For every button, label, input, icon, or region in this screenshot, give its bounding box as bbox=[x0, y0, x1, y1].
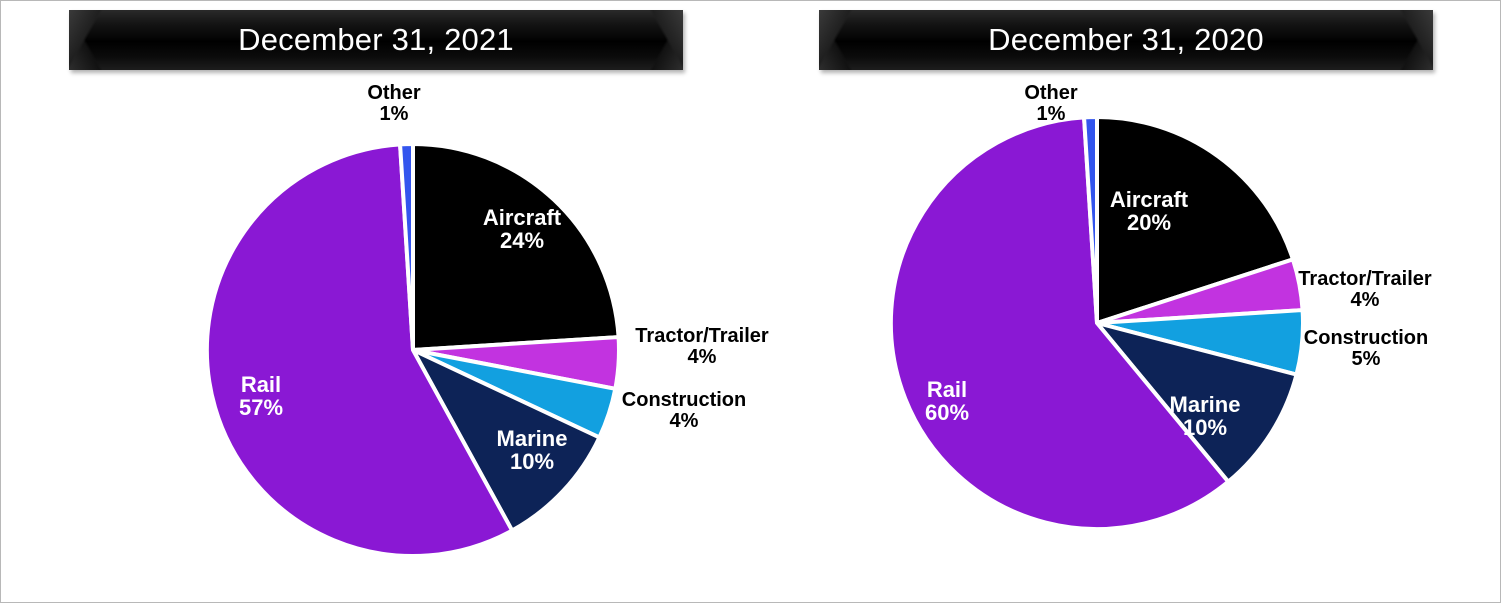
panel-title-2020: December 31, 2020 bbox=[819, 10, 1433, 70]
label-aircraft-value-2021: 24% bbox=[447, 229, 597, 252]
pie-area-2020: Other 1% Aircraft 20% Tractor/Trailer 4%… bbox=[751, 73, 1501, 602]
label-tractor-trailer-name-2020: Tractor/Trailer bbox=[1275, 269, 1455, 290]
label-marine-value-2020: 10% bbox=[1137, 416, 1273, 439]
label-marine-name-2021: Marine bbox=[464, 427, 600, 450]
label-aircraft-2021: Aircraft 24% bbox=[447, 206, 597, 253]
label-other-value-2021: 1% bbox=[334, 104, 454, 125]
pie-area-2021: Other 1% Aircraft 24% Tractor/Trailer 4%… bbox=[1, 73, 751, 602]
label-other-2020: Other 1% bbox=[991, 83, 1111, 125]
label-marine-name-2020: Marine bbox=[1137, 393, 1273, 416]
label-construction-value-2020: 5% bbox=[1278, 349, 1454, 370]
label-tractor-trailer-2020: Tractor/Trailer 4% bbox=[1275, 269, 1455, 311]
banner-plate: December 31, 2020 bbox=[819, 10, 1433, 70]
label-other-name-2020: Other bbox=[991, 83, 1111, 104]
label-other-2021: Other 1% bbox=[334, 83, 454, 125]
chart-panel-2021: December 31, 2021 bbox=[1, 1, 751, 602]
title-banner-2021: December 31, 2021 bbox=[69, 10, 683, 70]
label-construction-name-2021: Construction bbox=[599, 390, 769, 411]
chart-panel-2020: December 31, 2020 bbox=[751, 1, 1501, 602]
label-construction-2021: Construction 4% bbox=[599, 390, 769, 432]
label-marine-2020: Marine 10% bbox=[1137, 393, 1273, 440]
pie-chart-figure: December 31, 2021 bbox=[0, 0, 1501, 603]
label-marine-value-2021: 10% bbox=[464, 450, 600, 473]
label-marine-2021: Marine 10% bbox=[464, 427, 600, 474]
label-construction-name-2020: Construction bbox=[1278, 328, 1454, 349]
label-construction-2020: Construction 5% bbox=[1278, 328, 1454, 370]
label-tractor-trailer-value-2020: 4% bbox=[1275, 290, 1455, 311]
label-aircraft-value-2020: 20% bbox=[1074, 211, 1224, 234]
label-aircraft-name-2021: Aircraft bbox=[447, 206, 597, 229]
label-other-name-2021: Other bbox=[334, 83, 454, 104]
banner-plate: December 31, 2021 bbox=[69, 10, 683, 70]
title-banner-2020: December 31, 2020 bbox=[819, 10, 1433, 70]
label-aircraft-2020: Aircraft 20% bbox=[1074, 188, 1224, 235]
label-rail-value-2020: 60% bbox=[894, 401, 1000, 424]
label-rail-name-2020: Rail bbox=[894, 378, 1000, 401]
panel-title-2021: December 31, 2021 bbox=[69, 10, 683, 70]
label-rail-2020: Rail 60% bbox=[894, 378, 1000, 425]
label-rail-value-2021: 57% bbox=[208, 396, 314, 419]
label-aircraft-name-2020: Aircraft bbox=[1074, 188, 1224, 211]
label-other-value-2020: 1% bbox=[991, 104, 1111, 125]
label-rail-2021: Rail 57% bbox=[208, 373, 314, 420]
label-construction-value-2021: 4% bbox=[599, 411, 769, 432]
label-rail-name-2021: Rail bbox=[208, 373, 314, 396]
